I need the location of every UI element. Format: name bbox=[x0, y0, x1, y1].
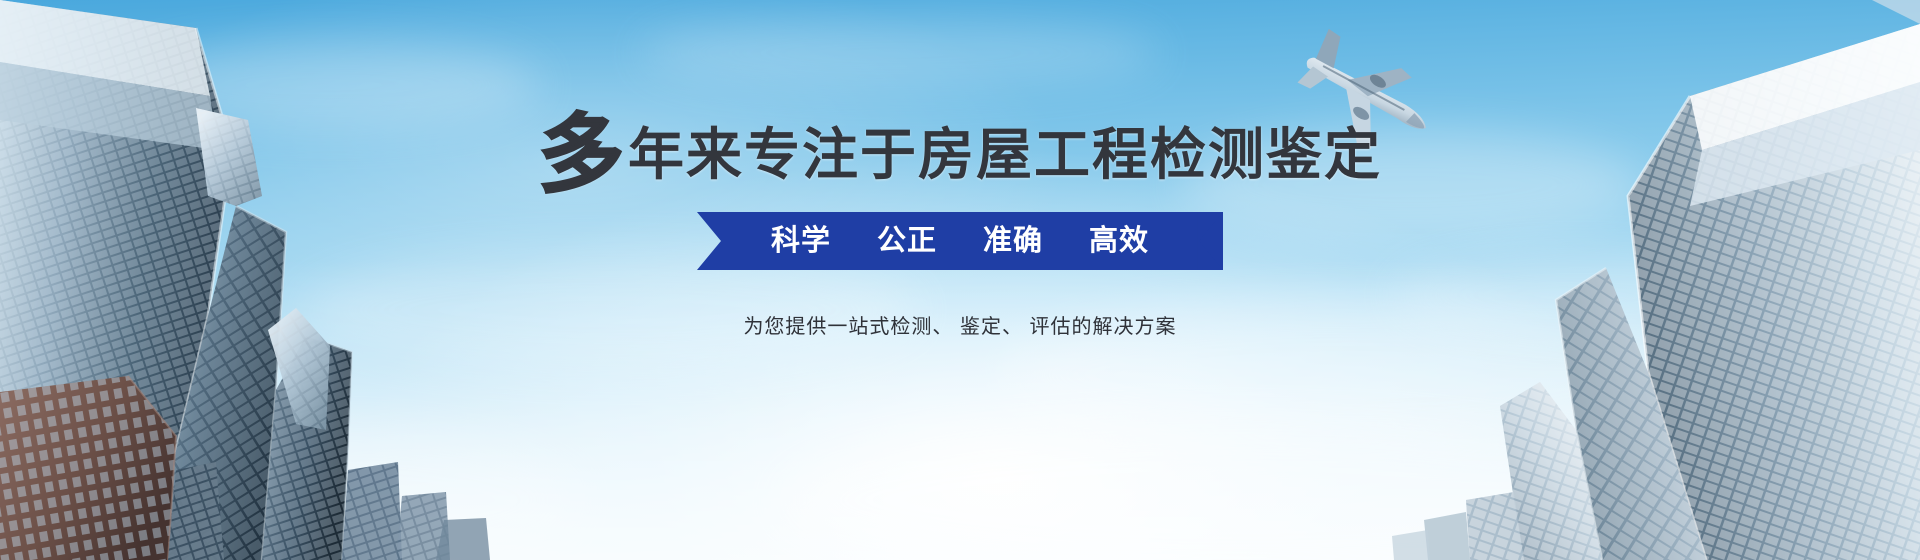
slogan-ribbon-wrapper: 科学公正准确高效 bbox=[0, 212, 1920, 270]
slogan-item-1: 科学 bbox=[771, 212, 831, 270]
hero-banner: 多年来专注于房屋工程检测鉴定 科学公正准确高效 为您提供一站式检测、 鉴定、 评… bbox=[0, 0, 1920, 560]
headline-rest-text: 年来专注于房屋工程检测鉴定 bbox=[628, 123, 1382, 186]
headline-full-text: 多年来专注于房屋工程检测鉴定 bbox=[0, 0, 1, 1]
headline-lead-char: 多 bbox=[538, 112, 624, 198]
banner-subtitle: 为您提供一站式检测、 鉴定、 评估的解决方案 bbox=[0, 310, 1920, 339]
slogan-item-2: 公正 bbox=[877, 212, 937, 270]
banner-headline: 多年来专注于房屋工程检测鉴定 bbox=[0, 112, 1920, 198]
slogan-ribbon: 科学公正准确高效 bbox=[697, 212, 1223, 270]
slogan-item-3: 准确 bbox=[983, 212, 1043, 270]
banner-content: 多年来专注于房屋工程检测鉴定 科学公正准确高效 为您提供一站式检测、 鉴定、 评… bbox=[0, 0, 1920, 560]
slogan-item-4: 高效 bbox=[1089, 212, 1149, 270]
